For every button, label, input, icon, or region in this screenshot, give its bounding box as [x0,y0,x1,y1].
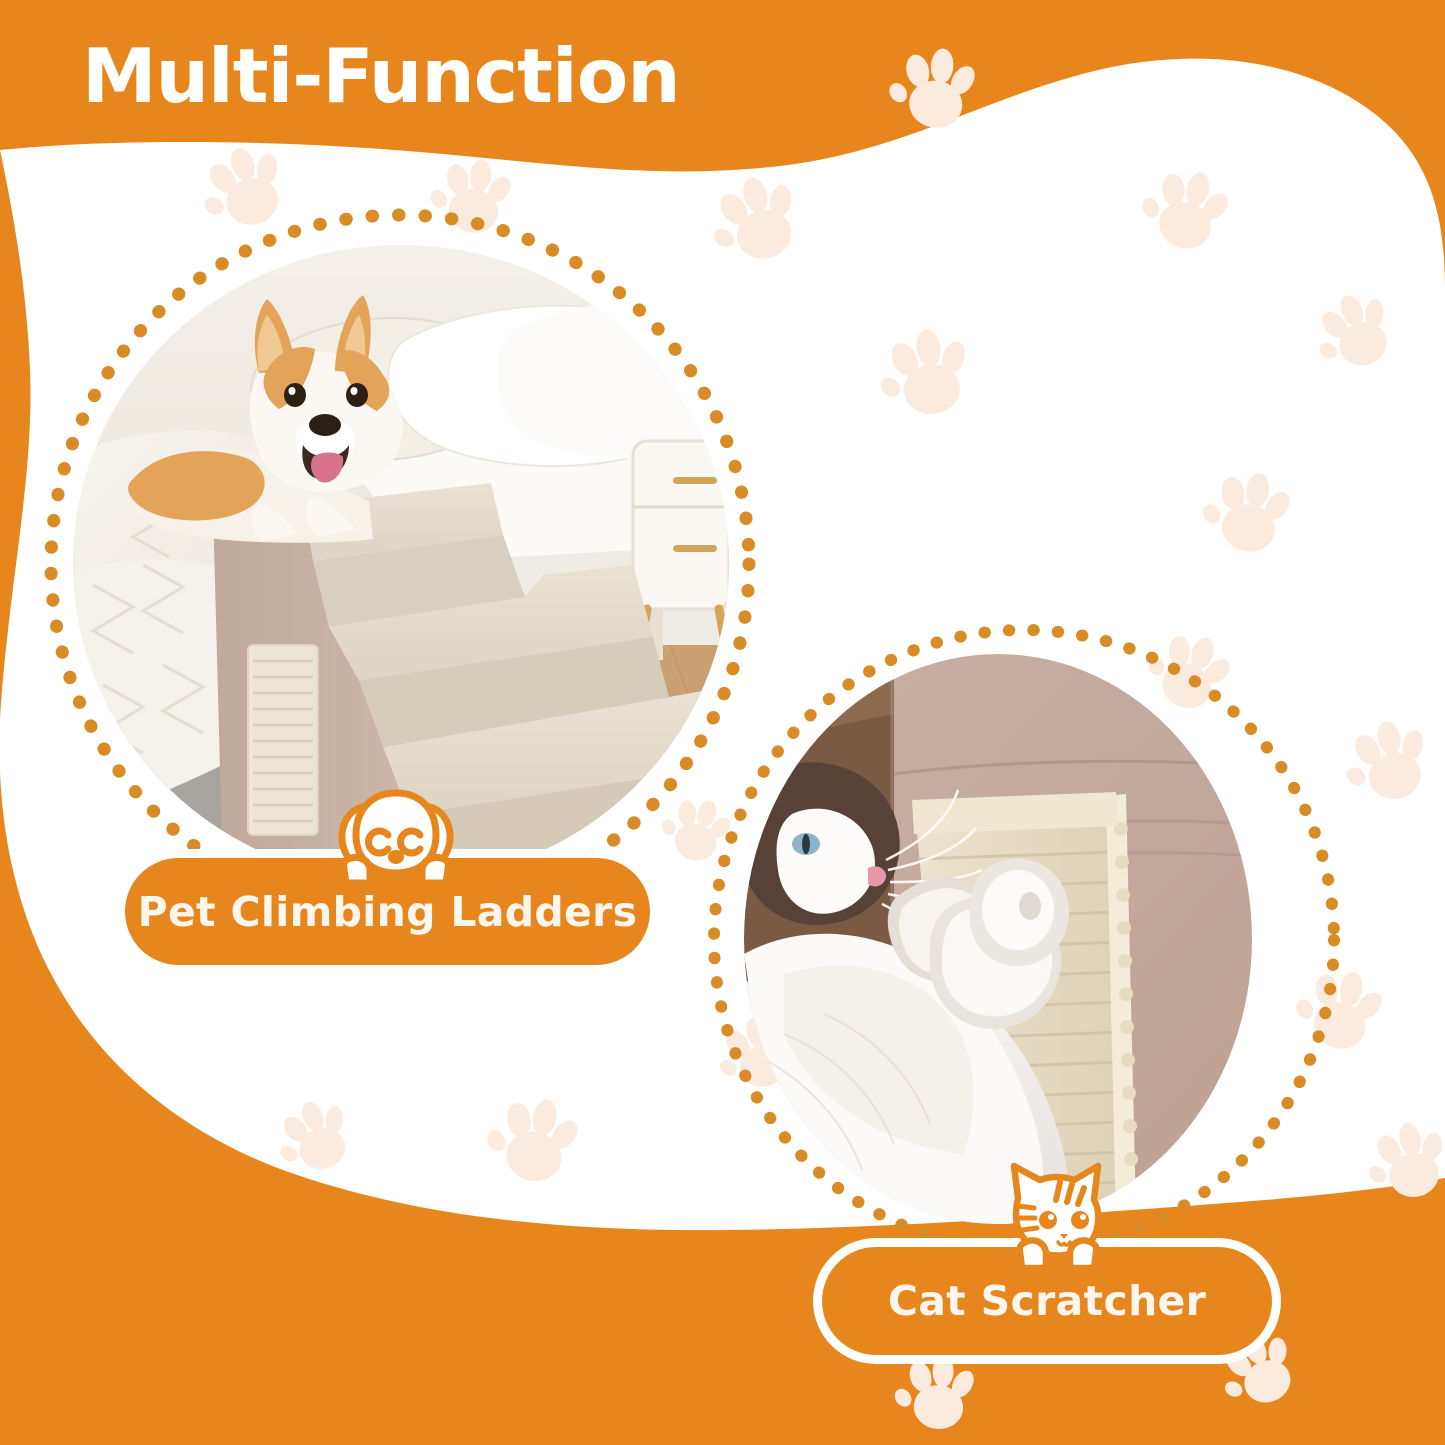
cat-scene-illustration [744,654,1252,1224]
cat-face-icon [1000,1158,1112,1268]
badge-label-pet-climbing-ladders: Pet Climbing Ladders [138,888,638,936]
dog-face-icon [332,787,460,883]
badge-label-cat-scratcher: Cat Scratcher [888,1277,1206,1325]
photo-cat-scratcher[interactable] [744,654,1252,1224]
marketing-graphic: Multi-Function [0,0,1445,1445]
page-title: Multi-Function [82,32,680,120]
